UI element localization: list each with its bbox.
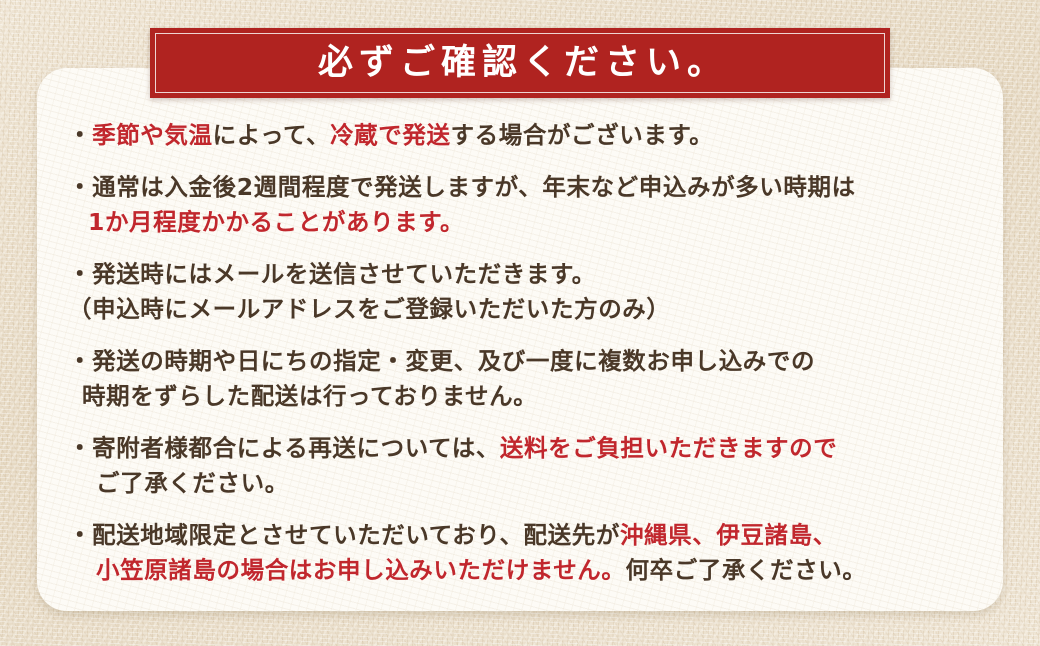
notice-banner: 必ずご確認ください。 [150,28,890,98]
notice-text-segment: ・寄附者様都合による再送については、 [68,434,500,462]
notice-bullet-line: ・発送の時期や日にちの指定・変更、及び一度に複数お申し込みでの [68,344,988,379]
notice-bullet: ・配送地域限定とさせていただいており、配送先が沖縄県、伊豆諸島、小笠原諸島の場合… [68,518,988,588]
notice-text-segment: ・ [68,121,92,149]
notice-body: ・季節や気温によって、冷蔵で発送する場合がございます。・通常は入金後2週間程度で… [68,118,988,588]
notice-bullet-line: ・発送時にはメールを送信させていただきます。 [68,257,988,292]
notice-text-segment: 1か月程度かかることがあります。 [88,208,464,236]
notice-bullet-line: ご了承ください。 [68,466,988,501]
notice-bullet: ・発送の時期や日にちの指定・変更、及び一度に複数お申し込みでの時期をずらした配送… [68,344,988,414]
notice-text-segment: によって、 [213,121,330,149]
notice-text-segment: 時期をずらした配送は行っておりません。 [82,382,537,410]
notice-bullet: ・寄附者様都合による再送については、送料をご負担いただきますのでご了承ください。 [68,431,988,501]
notice-text-segment: 送料をご負担いただきますので [500,434,837,462]
notice-text-segment: （申込時にメールアドレスをご登録いただいた方のみ） [68,295,671,323]
notice-text-segment: 沖縄県、伊豆諸島、 [620,521,837,549]
notice-text-segment: ・配送地域限定とさせていただいており、配送先が [68,521,620,549]
notice-bullet: ・発送時にはメールを送信させていただきます。（申込時にメールアドレスをご登録いた… [68,257,988,327]
notice-bullet: ・通常は入金後2週間程度で発送しますが、年末など申込みが多い時期は1か月程度かか… [68,170,988,240]
notice-bullet-line: 1か月程度かかることがあります。 [68,205,988,240]
notice-bullet-line: （申込時にメールアドレスをご登録いただいた方のみ） [68,292,988,327]
notice-banner-title: 必ずご確認ください。 [312,46,728,81]
notice-bullet-line: ・季節や気温によって、冷蔵で発送する場合がございます。 [68,118,988,153]
notice-bullet-line: ・配送地域限定とさせていただいており、配送先が沖縄県、伊豆諸島、 [68,518,988,553]
notice-text-segment: ご了承ください。 [96,469,289,497]
notice-bullet-line: 時期をずらした配送は行っておりません。 [68,379,988,414]
notice-text-segment: 小笠原諸島の場合はお申し込みいただけません。 [96,556,626,584]
notice-text-segment: 季節や気温 [92,121,213,149]
notice-text-segment: 冷蔵で発送 [330,121,451,149]
notice-bullet-line: ・寄附者様都合による再送については、送料をご負担いただきますので [68,431,988,466]
notice-text-segment: ・発送の時期や日にちの指定・変更、及び一度に複数お申し込みでの [68,347,815,375]
notice-bullet: ・季節や気温によって、冷蔵で発送する場合がございます。 [68,118,988,153]
notice-page: 必ずご確認ください。 ・季節や気温によって、冷蔵で発送する場合がございます。・通… [0,0,1040,646]
notice-text-segment: ・発送時にはメールを送信させていただきます。 [68,260,596,288]
notice-bullet-line: ・通常は入金後2週間程度で発送しますが、年末など申込みが多い時期は [68,170,988,205]
notice-text-segment: 何卒ご了承ください。 [626,556,867,584]
notice-text-segment: する場合がございます。 [451,121,714,149]
notice-bullet-line: 小笠原諸島の場合はお申し込みいただけません。何卒ご了承ください。 [68,553,988,588]
notice-text-segment: ・通常は入金後2週間程度で発送しますが、年末など申込みが多い時期は [68,173,856,201]
